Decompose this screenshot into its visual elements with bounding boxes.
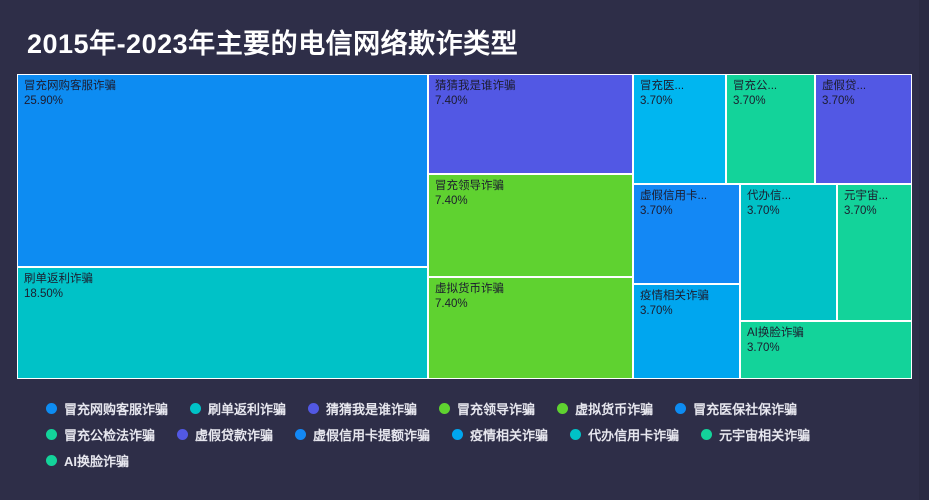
treemap-tile[interactable]: 刷单返利诈骗18.50% bbox=[17, 267, 428, 379]
right-edge-strip bbox=[919, 0, 929, 500]
legend-color-swatch-icon bbox=[452, 429, 463, 440]
tile-value: 3.70% bbox=[747, 341, 780, 355]
legend-item[interactable]: 代办信用卡诈骗 bbox=[570, 424, 679, 444]
tile-value: 3.70% bbox=[822, 94, 855, 108]
treemap-tile[interactable]: 疫情相关诈骗3.70% bbox=[633, 284, 740, 379]
treemap-tile[interactable]: 冒充网购客服诈骗25.90% bbox=[17, 74, 428, 267]
legend-item-label: 元宇宙相关诈骗 bbox=[719, 425, 810, 444]
treemap-tile[interactable]: 冒充公...3.70% bbox=[726, 74, 815, 184]
legend-item[interactable]: 元宇宙相关诈骗 bbox=[701, 424, 810, 444]
legend-item[interactable]: 冒充医保社保诈骗 bbox=[675, 398, 797, 418]
tile-label: 虚假信用卡... bbox=[640, 189, 707, 203]
page-title: 2015年-2023年主要的电信网络欺诈类型 bbox=[27, 22, 518, 61]
tile-value: 3.70% bbox=[733, 94, 766, 108]
legend-item-label: 冒充网购客服诈骗 bbox=[64, 399, 168, 418]
tile-value: 3.70% bbox=[844, 204, 877, 218]
legend-item[interactable]: 疫情相关诈骗 bbox=[452, 424, 548, 444]
tile-value: 25.90% bbox=[24, 94, 63, 108]
legend-color-swatch-icon bbox=[46, 429, 57, 440]
legend-item-label: 冒充公检法诈骗 bbox=[64, 425, 155, 444]
tile-label: 虚假贷... bbox=[822, 79, 866, 93]
legend-item[interactable]: 刷单返利诈骗 bbox=[190, 398, 286, 418]
tile-value: 3.70% bbox=[640, 304, 673, 318]
tile-label: 冒充网购客服诈骗 bbox=[24, 79, 116, 93]
treemap-tile[interactable]: 冒充领导诈骗7.40% bbox=[428, 174, 633, 277]
legend-color-swatch-icon bbox=[308, 403, 319, 414]
legend-item[interactable]: 冒充公检法诈骗 bbox=[46, 424, 155, 444]
legend-color-swatch-icon bbox=[701, 429, 712, 440]
legend-item-label: 冒充医保社保诈骗 bbox=[693, 399, 797, 418]
legend-item-label: AI换脸诈骗 bbox=[64, 451, 129, 470]
tile-value: 7.40% bbox=[435, 297, 468, 311]
tile-label: 冒充公... bbox=[733, 79, 777, 93]
tile-label: 元宇宙... bbox=[844, 189, 888, 203]
treemap-tile[interactable]: 虚拟货币诈骗7.40% bbox=[428, 277, 633, 379]
treemap-tile[interactable]: 猜猜我是谁诈骗7.40% bbox=[428, 74, 633, 174]
tile-label: AI换脸诈骗 bbox=[747, 326, 804, 340]
legend-item-label: 猜猜我是谁诈骗 bbox=[326, 399, 417, 418]
treemap-tile[interactable]: AI换脸诈骗3.70% bbox=[740, 321, 912, 379]
tile-label: 刷单返利诈骗 bbox=[24, 272, 93, 286]
tile-value: 7.40% bbox=[435, 94, 468, 108]
treemap-chart: 冒充网购客服诈骗25.90%刷单返利诈骗18.50%猜猜我是谁诈骗7.40%冒充… bbox=[17, 74, 912, 379]
legend-color-swatch-icon bbox=[46, 403, 57, 414]
legend-item-label: 虚拟货币诈骗 bbox=[575, 399, 653, 418]
tile-label: 猜猜我是谁诈骗 bbox=[435, 79, 516, 93]
treemap-tile[interactable]: 代办信...3.70% bbox=[740, 184, 837, 321]
legend-item[interactable]: 虚假信用卡提额诈骗 bbox=[295, 424, 430, 444]
legend-item[interactable]: 虚假贷款诈骗 bbox=[177, 424, 273, 444]
tile-value: 3.70% bbox=[747, 204, 780, 218]
legend-color-swatch-icon bbox=[295, 429, 306, 440]
tile-label: 冒充领导诈骗 bbox=[435, 179, 504, 193]
legend-color-swatch-icon bbox=[557, 403, 568, 414]
legend-item[interactable]: AI换脸诈骗 bbox=[46, 450, 129, 470]
treemap-tile[interactable]: 元宇宙...3.70% bbox=[837, 184, 912, 321]
legend-color-swatch-icon bbox=[190, 403, 201, 414]
legend-item[interactable]: 冒充网购客服诈骗 bbox=[46, 398, 168, 418]
legend-color-swatch-icon bbox=[675, 403, 686, 414]
legend-color-swatch-icon bbox=[439, 403, 450, 414]
legend-item-label: 疫情相关诈骗 bbox=[470, 425, 548, 444]
tile-value: 3.70% bbox=[640, 204, 673, 218]
treemap-tile[interactable]: 虚假贷...3.70% bbox=[815, 74, 912, 184]
legend-item-label: 虚假信用卡提额诈骗 bbox=[313, 425, 430, 444]
legend-color-swatch-icon bbox=[46, 455, 57, 466]
tile-label: 代办信... bbox=[747, 189, 791, 203]
tile-label: 疫情相关诈骗 bbox=[640, 289, 709, 303]
treemap-tile[interactable]: 虚假信用卡...3.70% bbox=[633, 184, 740, 284]
legend-item-label: 刷单返利诈骗 bbox=[208, 399, 286, 418]
legend-color-swatch-icon bbox=[570, 429, 581, 440]
tile-value: 18.50% bbox=[24, 287, 63, 301]
tile-label: 冒充医... bbox=[640, 79, 684, 93]
legend-item-label: 代办信用卡诈骗 bbox=[588, 425, 679, 444]
tile-label: 虚拟货币诈骗 bbox=[435, 282, 504, 296]
chart-legend: 冒充网购客服诈骗刷单返利诈骗猜猜我是谁诈骗冒充领导诈骗虚拟货币诈骗冒充医保社保诈… bbox=[0, 398, 929, 470]
legend-color-swatch-icon bbox=[177, 429, 188, 440]
treemap-tile[interactable]: 冒充医...3.70% bbox=[633, 74, 726, 184]
legend-item[interactable]: 冒充领导诈骗 bbox=[439, 398, 535, 418]
legend-item[interactable]: 虚拟货币诈骗 bbox=[557, 398, 653, 418]
tile-value: 3.70% bbox=[640, 94, 673, 108]
legend-item-label: 虚假贷款诈骗 bbox=[195, 425, 273, 444]
legend-item[interactable]: 猜猜我是谁诈骗 bbox=[308, 398, 417, 418]
tile-value: 7.40% bbox=[435, 194, 468, 208]
legend-item-label: 冒充领导诈骗 bbox=[457, 399, 535, 418]
